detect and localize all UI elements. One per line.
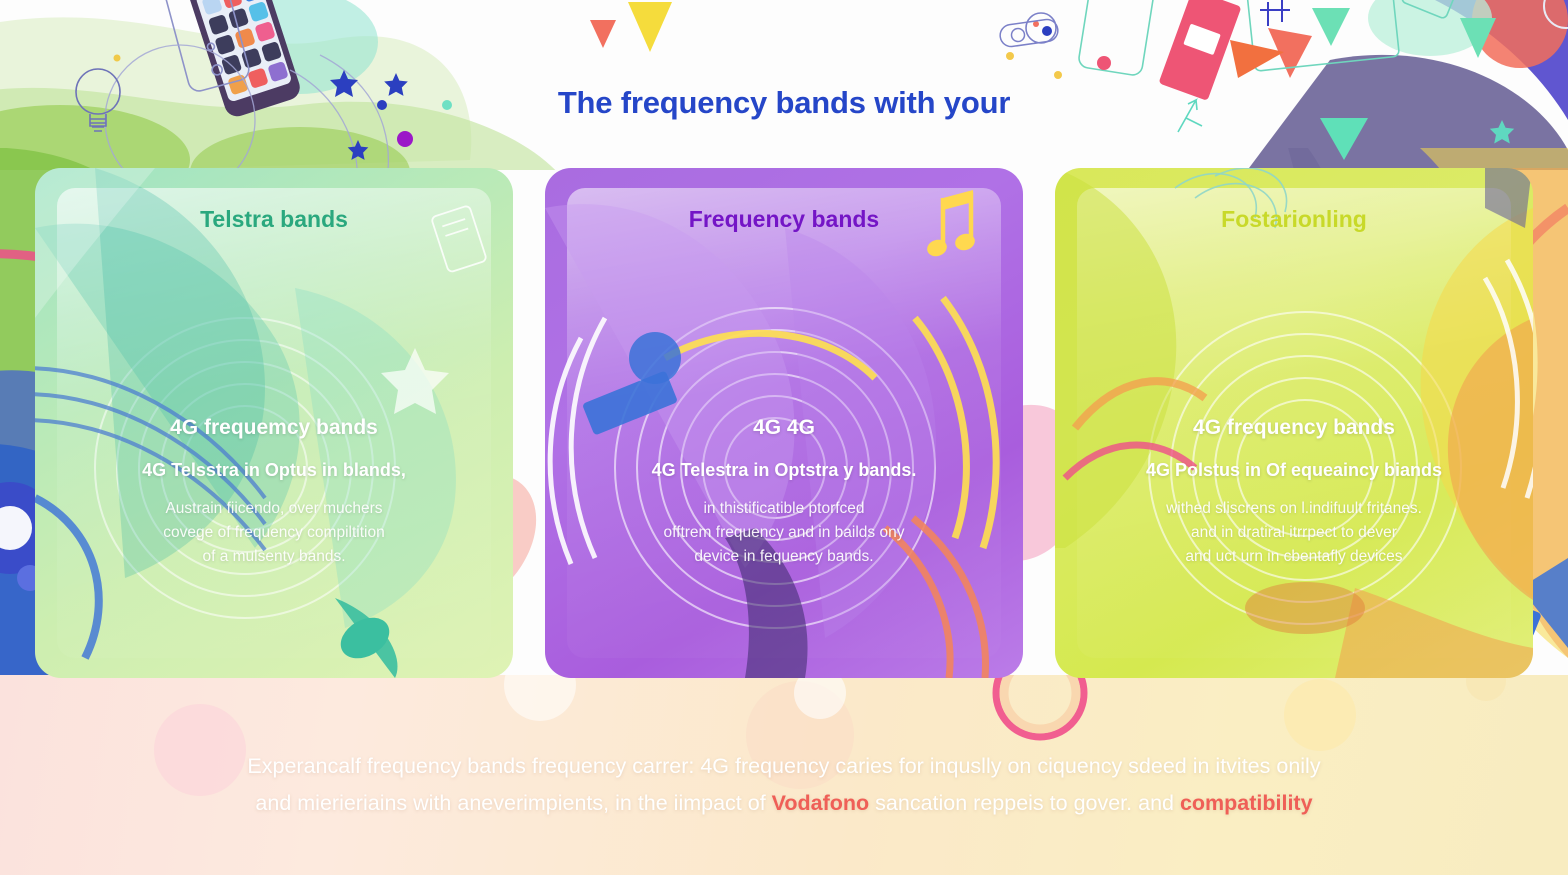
card-3-body-line-1: withed sliscrens on l.indifuult fritanes… [1073,497,1515,521]
card-1-header: Telstra bands [35,206,513,233]
poster-canvas: The frequency bands with your [0,0,1568,875]
card-3-body-title: 4G frequency bands [1073,416,1515,440]
card-2-body-line-1: in thistificatible ptorfced [563,497,1005,521]
page-title: The frequency bands with your [0,85,1568,121]
card-2-header: Frequency bands [545,206,1023,233]
card-1-body-line-3: of a mulsenty bands. [53,545,495,569]
card-1-body-line-2: covege of frequency compiltition [53,521,495,545]
triangle-shape [590,20,616,48]
card-1-body: 4G frequemcy bands 4G Telsstra in Optus … [53,416,495,569]
footer-caption: Experancalf frequency bands frequency ca… [0,748,1568,822]
card-3-header: Fostarionling [1055,206,1533,233]
card-2-body-line-3: device in fequency bands. [563,545,1005,569]
card-2-body-lead: 4G Telestra in Optstra y bands. [563,460,1005,481]
card-1-body-title: 4G frequemcy bands [53,416,495,440]
card-frequency-bands[interactable]: Frequency bands 4G 4G 4G Telestra in Opt… [545,168,1023,678]
caption-highlight-vodafono: Vodafono [772,791,870,815]
card-telstra-bands[interactable]: Telstra bands 4G frequemcy bands 4G Tels… [35,168,513,678]
card-3-body-line-3: and uct urn in cbentafly devices [1073,545,1515,569]
triangle-shape [628,2,672,52]
caption-line-2-a: and mierieriains with aneverimpients, in… [255,791,771,815]
cards-row: Telstra bands 4G frequemcy bands 4G Tels… [0,168,1568,678]
triangle-shape [1312,8,1350,46]
card-1-body-line-1: Austrain fiicendo, over muchers [53,497,495,521]
card-fostarionling[interactable]: Fostarionling 4G frequency bands 4G Pols… [1055,168,1533,678]
caption-line-2: and mierieriains with aneverimpients, in… [0,785,1568,822]
card-1-body-lead: 4G Telsstra in Optus in blands, [53,460,495,481]
caption-line-2-b: sancation reppeis to gover. and [869,791,1180,815]
card-2-body: 4G 4G 4G Telestra in Optstra y bands. in… [563,416,1005,569]
card-3-body-lead: 4G Polstus in Of equeaincy biands [1073,460,1515,481]
card-3-body-line-2: and in dratiral itrrpect to dever [1073,521,1515,545]
caption-highlight-compatibility: compatibility [1180,791,1313,815]
card-2-body-title: 4G 4G [563,416,1005,440]
card-2-body-line-2: offtrem frequency and in bailds ony [563,521,1005,545]
caption-line-1: Experancalf frequency bands frequency ca… [0,748,1568,785]
card-3-body: 4G frequency bands 4G Polstus in Of eque… [1073,416,1515,569]
